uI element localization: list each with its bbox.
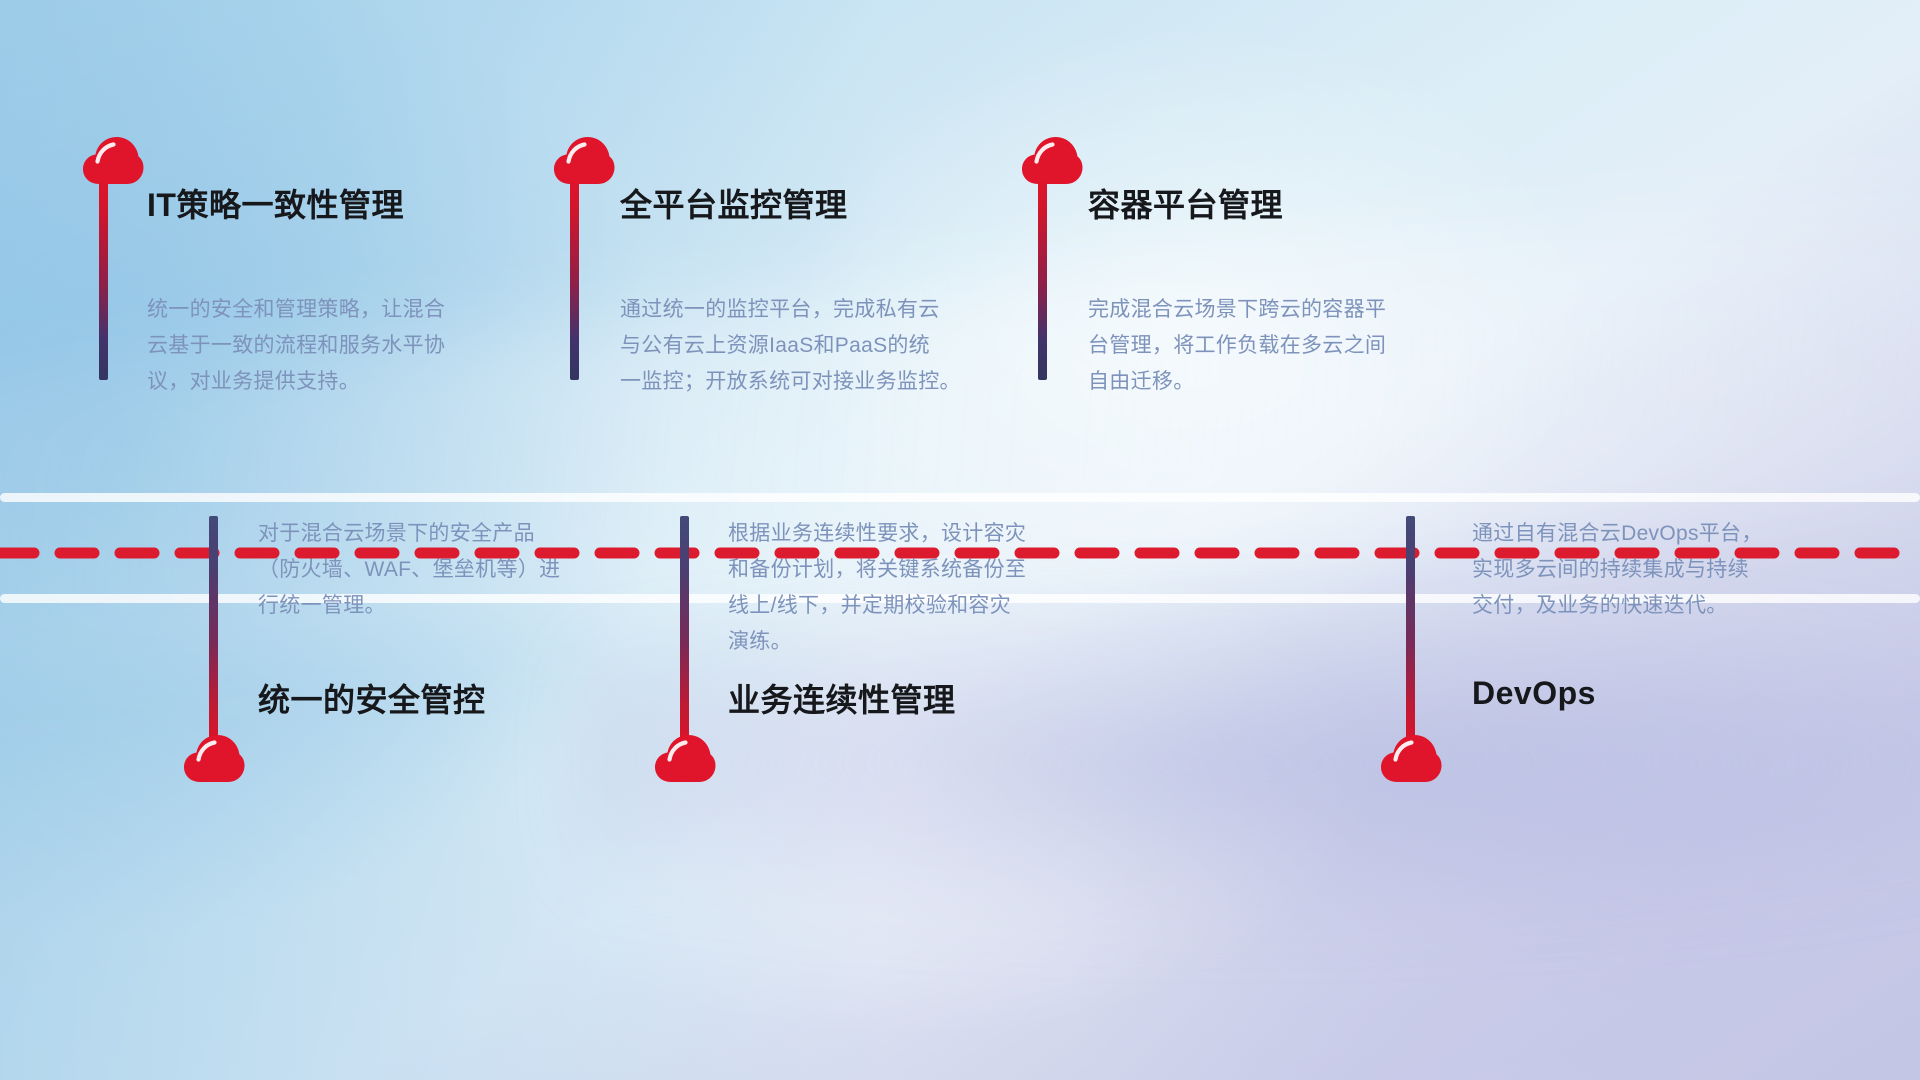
infographic-canvas: IT策略一致性管理 统一的安全和管理策略，让混合 云基于一致的流程和服务水平协 … [0,0,1920,1080]
pin-stem [1038,180,1047,380]
column-body: 根据业务连续性要求，设计容灾 和备份计划，将关键系统备份至 线上/线下，并定期校… [728,516,1078,660]
column-body: 通过统一的监控平台，完成私有云 与公有云上资源IaaS和PaaS的统 一监控；开… [620,292,1010,400]
pin-stem [680,516,689,748]
column-title: DevOps [1472,675,1596,712]
divider-rule-top [0,493,1920,502]
cloud-icon [82,136,144,186]
column-body: 统一的安全和管理策略，让混合 云基于一致的流程和服务水平协 议，对业务提供支持。 [147,292,517,400]
cloud-icon [1380,734,1442,784]
cloud-icon [1021,136,1083,186]
pin-stem [1406,516,1415,748]
pin-stem [99,180,108,380]
column-title: 统一的安全管控 [258,675,486,721]
cloud-icon [183,734,245,784]
pin-stem [570,180,579,380]
column-title: IT策略一致性管理 [147,180,404,226]
cloud-icon [553,136,615,186]
column-body: 完成混合云场景下跨云的容器平 台管理，将工作负载在多云之间 自由迁移。 [1088,292,1458,400]
column-title: 业务连续性管理 [728,675,956,721]
column-body: 通过自有混合云DevOps平台， 实现多云间的持续集成与持续 交付，及业务的快速… [1472,516,1872,624]
column-title: 全平台监控管理 [620,180,848,226]
pin-stem [209,516,218,748]
cloud-icon [654,734,716,784]
column-body: 对于混合云场景下的安全产品 （防火墙、WAF、堡垒机等）进 行统一管理。 [258,516,618,624]
column-title: 容器平台管理 [1088,180,1283,226]
